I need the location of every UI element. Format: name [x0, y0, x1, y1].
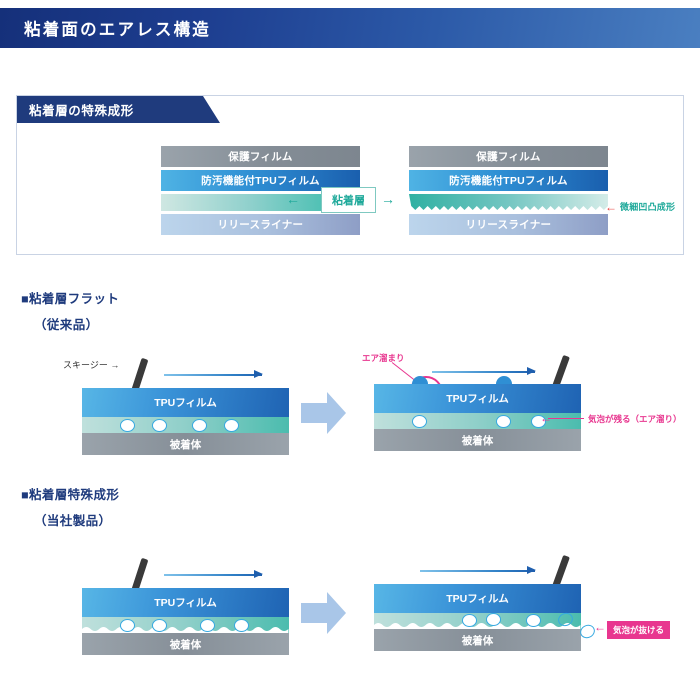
band-adhesive-textured [82, 617, 289, 633]
panel-tab: 粘着層の特殊成形 [17, 96, 203, 123]
band-tpu-film: TPUフィルム [374, 384, 581, 413]
air-bubble [486, 613, 501, 626]
diagram-textured-after: TPUフィルム 被着体 [374, 584, 581, 642]
layer-tpu-film: 防汚機能付TPUフィルム [409, 170, 608, 191]
band-substrate: 被着体 [82, 633, 289, 655]
section-subheading-text: （当社製品） [34, 510, 119, 529]
diagram-conventional-before: TPUフィルム 被着体 [82, 388, 289, 446]
arrow-left-icon: ← [286, 192, 300, 206]
layer-stack-textured: 保護フィルム 防汚機能付TPUフィルム リリースライナー [409, 146, 608, 235]
bubbles-remain-leader-line [548, 418, 584, 419]
squeegee-label: スキージー → [63, 358, 119, 371]
air-bubble [412, 415, 427, 428]
band-tpu-film: TPUフィルム [374, 584, 581, 613]
air-bubble [152, 619, 167, 632]
process-arrow-icon [300, 590, 347, 636]
process-arrow-icon [300, 390, 347, 436]
section-heading-conventional: ■粘着層フラット （従来品） [21, 288, 119, 333]
air-bubble [120, 619, 135, 632]
section-heading-text: ■粘着層フラット [21, 288, 119, 307]
layer-release-liner: リリースライナー [161, 214, 360, 235]
band-adhesive-textured [374, 613, 581, 629]
page-title: 粘着面のエアレス構造 [24, 16, 211, 40]
air-bubble [462, 614, 477, 627]
band-tpu-film: TPUフィルム [82, 388, 289, 417]
section-heading-text: ■粘着層特殊成形 [21, 484, 119, 503]
adhesive-layer-callout: 粘着層 [321, 187, 376, 213]
panel-tab-label: 粘着層の特殊成形 [29, 100, 134, 119]
micro-texture-arrow-icon: ← [605, 201, 617, 213]
flow-direction-arrow [420, 570, 535, 571]
air-bubble [152, 419, 167, 432]
micro-texture-label: 微細凹凸成形 [620, 200, 675, 213]
air-bubble [234, 619, 249, 632]
air-bubble [526, 614, 541, 627]
band-tpu-film: TPUフィルム [82, 588, 289, 617]
air-bubble [120, 419, 135, 432]
bubbles-escape-badge: 気泡が抜ける [607, 621, 670, 639]
band-substrate: 被着体 [82, 433, 289, 455]
page-header: 粘着面のエアレス構造 [0, 8, 700, 48]
arrow-right-icon: → [381, 192, 395, 206]
layer-adhesive-textured [409, 194, 608, 211]
flow-direction-arrow [432, 371, 535, 372]
wavy-adhesive-shape [409, 194, 608, 215]
band-substrate: 被着体 [374, 429, 581, 451]
band-substrate: 被着体 [374, 629, 581, 651]
layer-protective-film: 保護フィルム [409, 146, 608, 167]
band-adhesive [82, 417, 289, 433]
bubbles-escape-arrow-icon: ← [594, 621, 606, 633]
layer-release-liner: リリースライナー [409, 214, 608, 235]
wavy-texture-shape [374, 621, 581, 629]
air-bubble [192, 419, 207, 432]
air-bubble [224, 419, 239, 432]
wavy-texture-shape [82, 625, 289, 633]
air-bubble [200, 619, 215, 632]
air-pocket-label: エア溜まり [362, 352, 405, 364]
layer-protective-film: 保護フィルム [161, 146, 360, 167]
bubbles-remain-label: 気泡が残る（エア溜り） [588, 413, 682, 425]
diagram-textured-before: TPUフィルム 被着体 [82, 588, 289, 646]
flow-direction-arrow [164, 374, 262, 375]
section-subheading-text: （従来品） [34, 314, 119, 333]
section-heading-own-product: ■粘着層特殊成形 （当社製品） [21, 484, 119, 529]
bubbles-remain-arrow-icon: ← [540, 412, 552, 424]
flow-direction-arrow [164, 574, 262, 575]
air-bubble [496, 415, 511, 428]
